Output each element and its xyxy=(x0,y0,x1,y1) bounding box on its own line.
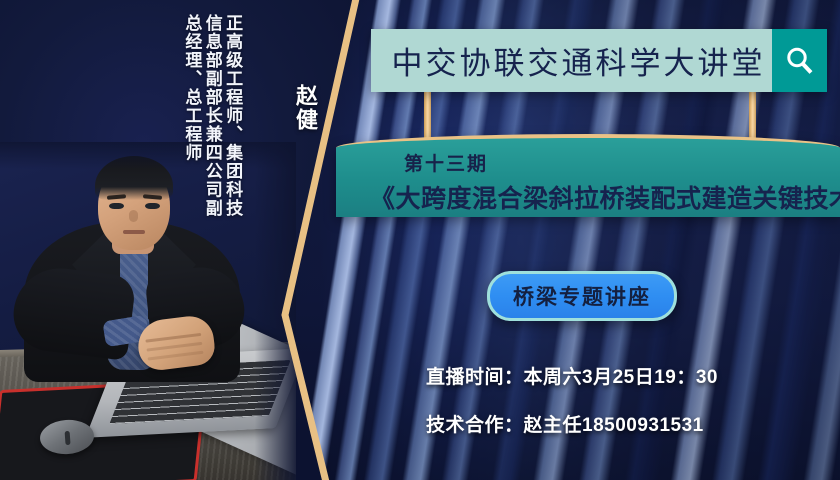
search-icon-box[interactable] xyxy=(772,29,827,92)
title-sign-board: 中交协联交通科学大讲堂 xyxy=(371,29,827,92)
photo-eye-left xyxy=(109,203,124,209)
photo-mouth xyxy=(123,230,145,234)
speaker-photo xyxy=(0,142,296,480)
topic-badge-label: 桥梁专题讲座 xyxy=(513,281,651,311)
speaker-credentials: 正高级工程师、集团科技 信息部副部长兼四公司副 总经理、总工程师 xyxy=(182,14,241,314)
broadcast-time: 直播时间：本周六3月25日19：30 xyxy=(426,362,718,389)
title-sign-panel: 中交协联交通科学大讲堂 xyxy=(371,29,772,92)
topic-badge[interactable]: 桥梁专题讲座 xyxy=(487,271,677,321)
webinar-poster: 正高级工程师、集团科技 信息部副部长兼四公司副 总经理、总工程师 赵健 中交协联… xyxy=(0,0,840,480)
program-title: 中交协联交通科学大讲堂 xyxy=(392,38,766,83)
credential-column-3: 总经理、总工程师 xyxy=(182,14,200,162)
info-lines: 直播时间：本周六3月25日19：30 技术合作：赵主任18500931531 xyxy=(426,362,718,458)
lecture-subtitle-block: 第十三期 《大跨度混合梁斜拉桥装配式建造关键技术》 xyxy=(336,134,840,217)
issue-number: 第十三期 xyxy=(404,149,822,176)
search-icon xyxy=(784,45,816,77)
speaker-name: 赵健 xyxy=(289,84,321,132)
photo-eye-right xyxy=(145,203,160,209)
photo-nose xyxy=(129,210,138,222)
credential-column-2: 信息部副部长兼四公司副 xyxy=(202,14,220,218)
technical-contact: 技术合作：赵主任18500931531 xyxy=(426,410,718,437)
credential-column-1: 正高级工程师、集团科技 xyxy=(223,14,241,218)
lecture-title: 《大跨度混合梁斜拉桥装配式建造关键技术》 xyxy=(370,179,822,215)
